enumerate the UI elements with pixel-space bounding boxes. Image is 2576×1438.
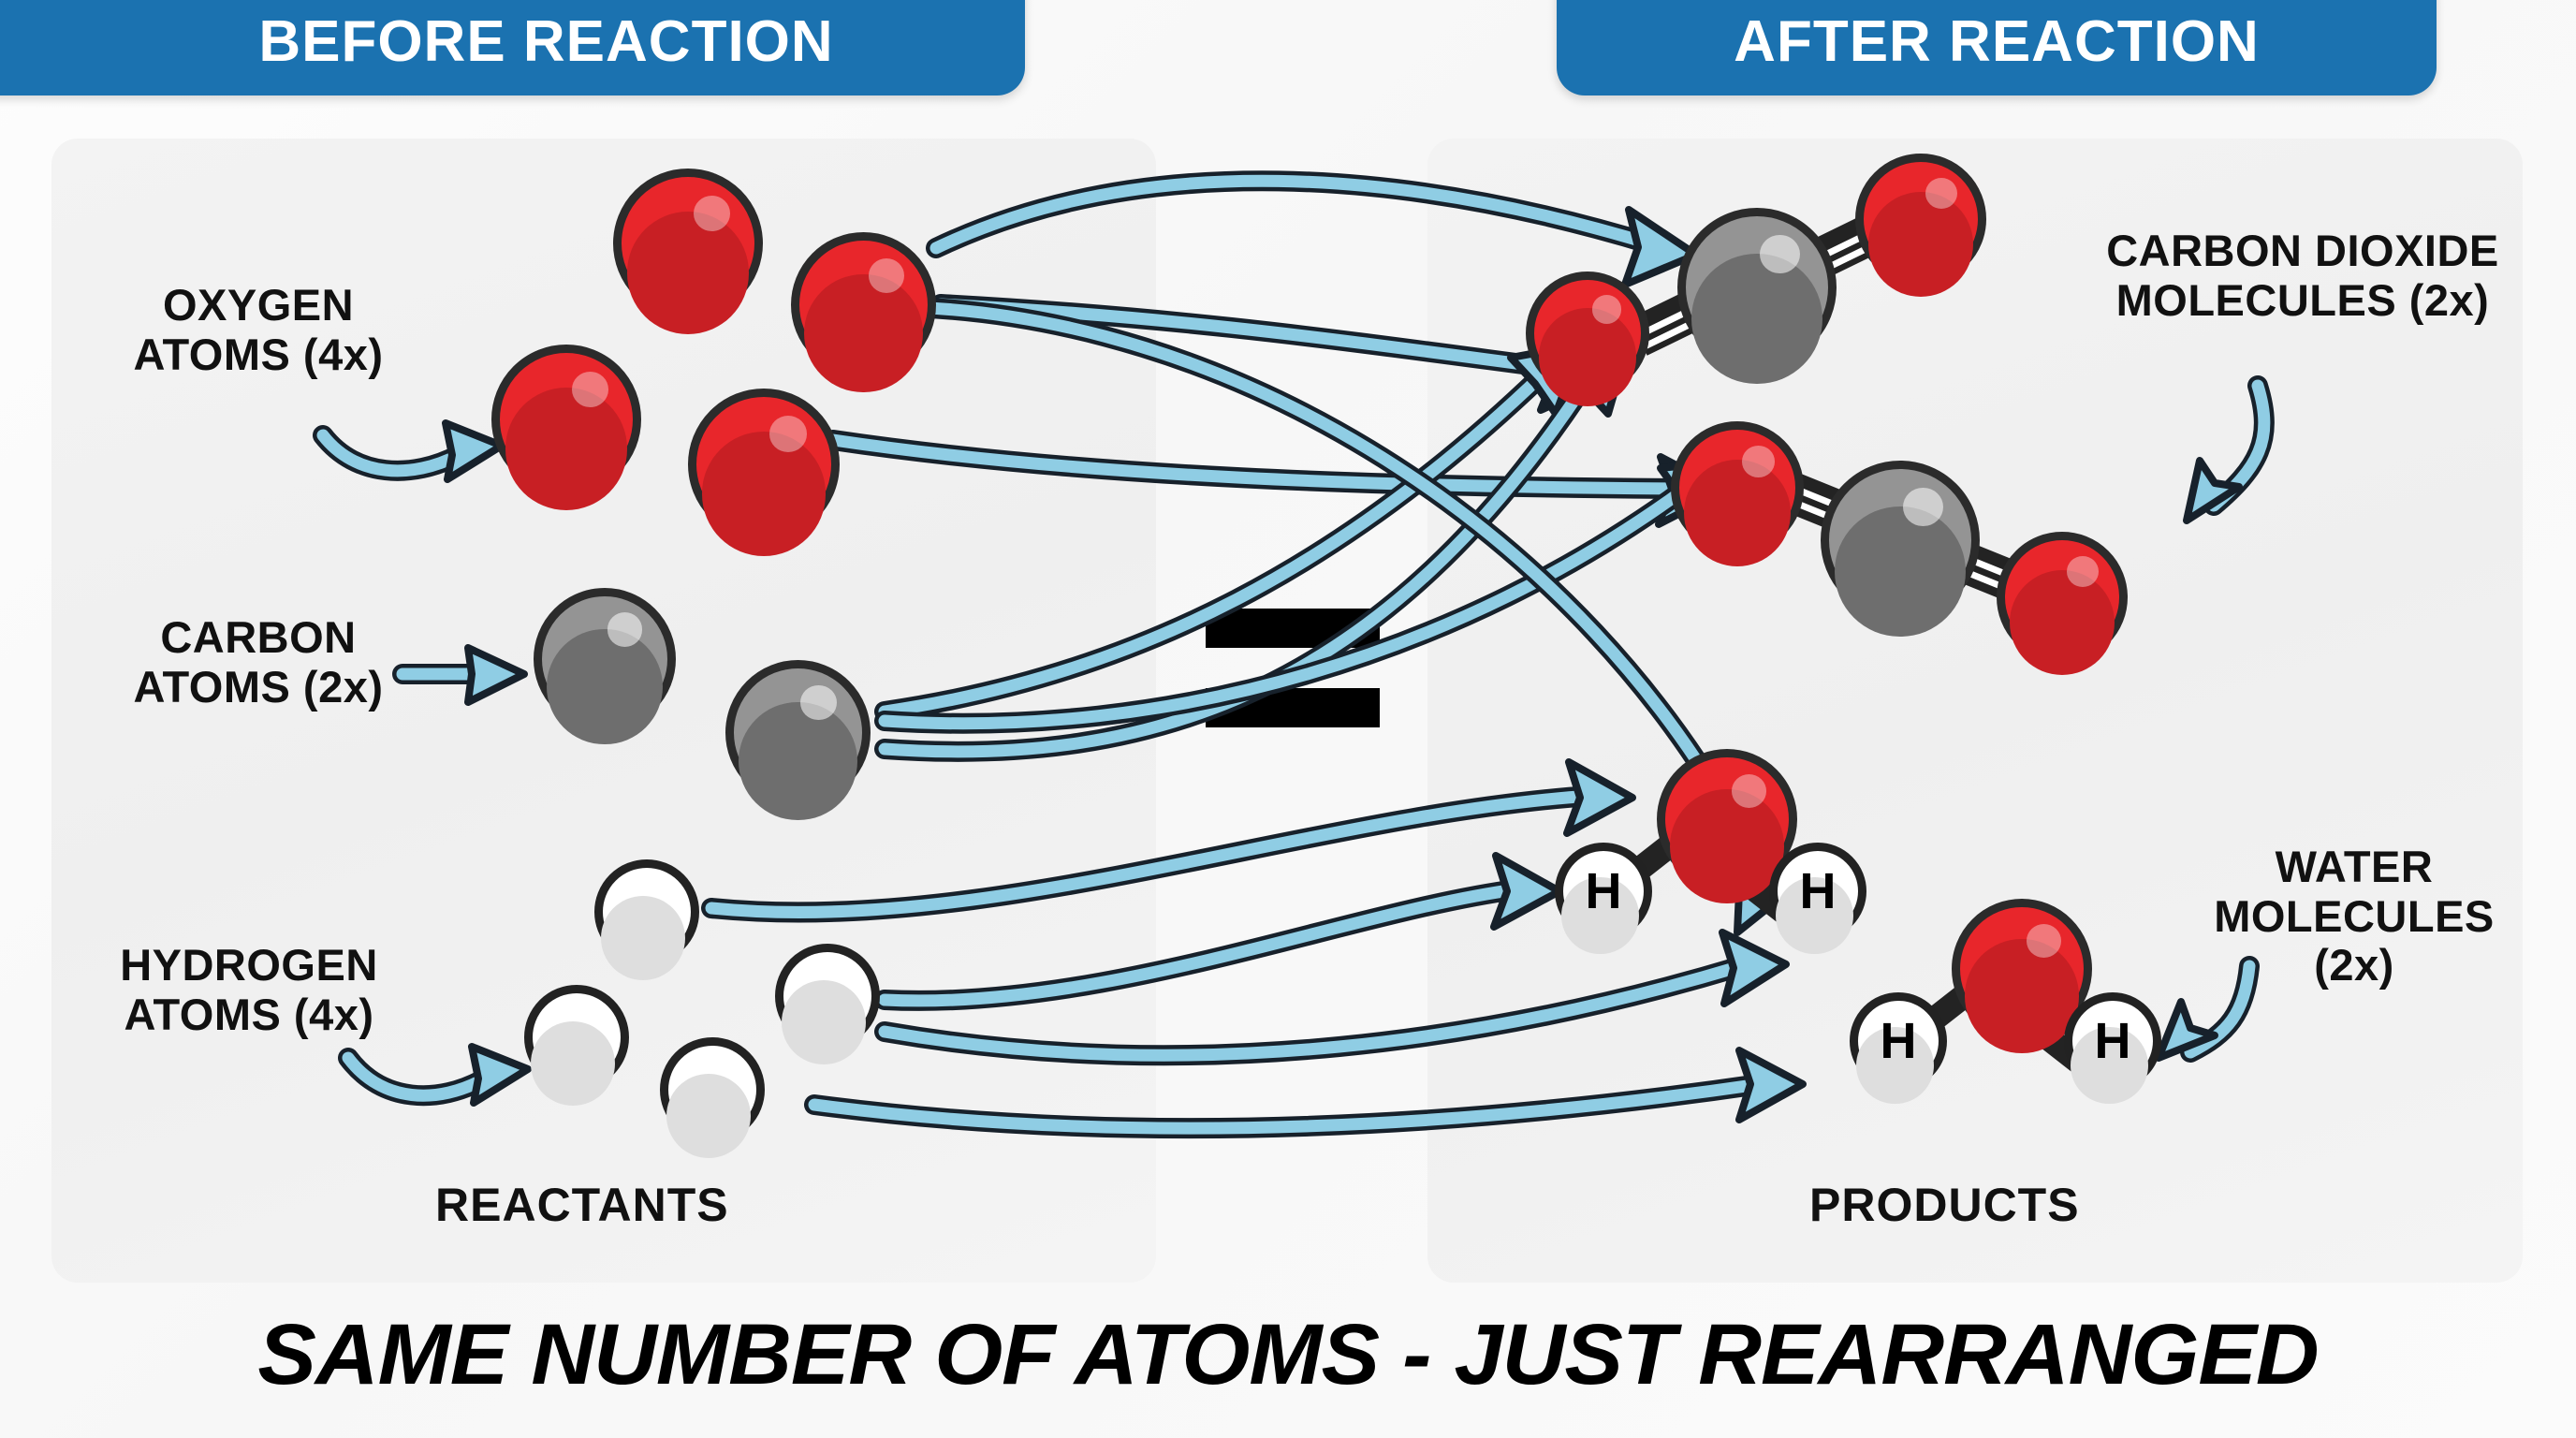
- carbon-atom: [1677, 208, 1837, 367]
- equals-sign: [1206, 609, 1380, 730]
- hydrogen-atom: [594, 859, 699, 964]
- hydrogen-symbol: H: [1778, 851, 1858, 932]
- hydrogen-atom: H: [1555, 843, 1652, 940]
- oxygen-atom: [791, 232, 936, 377]
- oxygen-atom: [1997, 532, 2128, 663]
- banner-after-reaction: AFTER REACTION: [1557, 0, 2437, 95]
- atom-highlight: [800, 685, 836, 720]
- atom-highlight: [1760, 235, 1800, 273]
- label-water-molecules: WATER MOLECULES (2x): [2153, 843, 2555, 990]
- atom-highlight: [607, 612, 643, 646]
- carbon-atom: [1821, 461, 1980, 620]
- hydrogen-atom: [660, 1037, 765, 1142]
- bottom-caption: SAME NUMBER OF ATOMS - JUST REARRANGED: [0, 1306, 2576, 1404]
- diagram-canvas: BEFORE REACTION AFTER REACTION OXYGEN AT…: [0, 0, 2576, 1438]
- oxygen-atom: [688, 389, 840, 540]
- hydrogen-symbol: H: [1858, 1001, 1939, 1081]
- atom-shading: [782, 980, 866, 1064]
- label-carbon-atoms: CARBON ATOMS (2x): [80, 613, 436, 712]
- oxygen-atom: [1526, 271, 1649, 395]
- atom-shading: [1684, 460, 1791, 566]
- atom-highlight: [1742, 446, 1775, 477]
- atom-highlight: [769, 416, 807, 452]
- hydrogen-atom: [524, 985, 629, 1090]
- oxygen-atom: [491, 345, 641, 494]
- carbon-atom: [725, 660, 871, 805]
- atom-highlight: [1592, 295, 1622, 324]
- oxygen-atom: [1855, 154, 1986, 285]
- label-carbon-dioxide-molecules: CARBON DIOXIDE MOLECULES (2x): [2041, 227, 2565, 325]
- atom-shading: [601, 896, 685, 980]
- carbon-dioxide-molecule: [1526, 169, 2050, 421]
- atom-shading: [804, 274, 922, 392]
- carbon-dioxide-molecule: [1671, 421, 2195, 674]
- hydrogen-atom: H: [2064, 992, 2161, 1090]
- carbon-atom: [534, 588, 676, 730]
- equals-bar-bottom: [1206, 688, 1380, 727]
- atom-highlight: [1903, 488, 1943, 526]
- label-oxygen-atoms: OXYGEN ATOMS (4x): [80, 281, 436, 379]
- atom-shading: [2010, 570, 2115, 675]
- atom-shading: [1965, 939, 2078, 1052]
- atom-shading: [627, 212, 750, 334]
- hydrogen-symbol: H: [2072, 1001, 2153, 1081]
- equals-bar-top: [1206, 609, 1380, 648]
- label-products: PRODUCTS: [1809, 1178, 2080, 1232]
- atom-shading: [505, 388, 628, 510]
- atom-shading: [1691, 254, 1822, 385]
- atom-shading: [739, 702, 856, 820]
- oxygen-atom: [613, 169, 763, 318]
- banner-before-reaction: BEFORE REACTION: [0, 0, 1025, 95]
- atom-shading: [1868, 192, 1973, 297]
- atom-highlight: [1925, 178, 1957, 209]
- hydrogen-symbol: H: [1563, 851, 1644, 932]
- atom-highlight: [2067, 556, 2099, 587]
- hydrogen-atom: H: [1850, 992, 1947, 1090]
- label-reactants: REACTANTS: [435, 1178, 729, 1232]
- atom-shading: [666, 1074, 751, 1158]
- atom-shading: [547, 629, 662, 744]
- atom-shading: [1835, 506, 1966, 638]
- atom-shading: [1670, 789, 1783, 902]
- banner-before-label: BEFORE REACTION: [258, 8, 833, 75]
- atom-shading: [531, 1021, 615, 1106]
- hydrogen-atom: H: [1769, 843, 1866, 940]
- oxygen-atom: [1671, 421, 1804, 554]
- water-molecule: H H: [1554, 740, 1872, 955]
- hydrogen-atom: [775, 944, 880, 1049]
- water-molecule: H H: [1849, 889, 2167, 1105]
- atom-shading: [702, 432, 826, 555]
- atom-shading: [1539, 308, 1637, 406]
- label-hydrogen-atoms: HYDROGEN ATOMS (4x): [62, 941, 436, 1039]
- banner-after-label: AFTER REACTION: [1734, 8, 2260, 75]
